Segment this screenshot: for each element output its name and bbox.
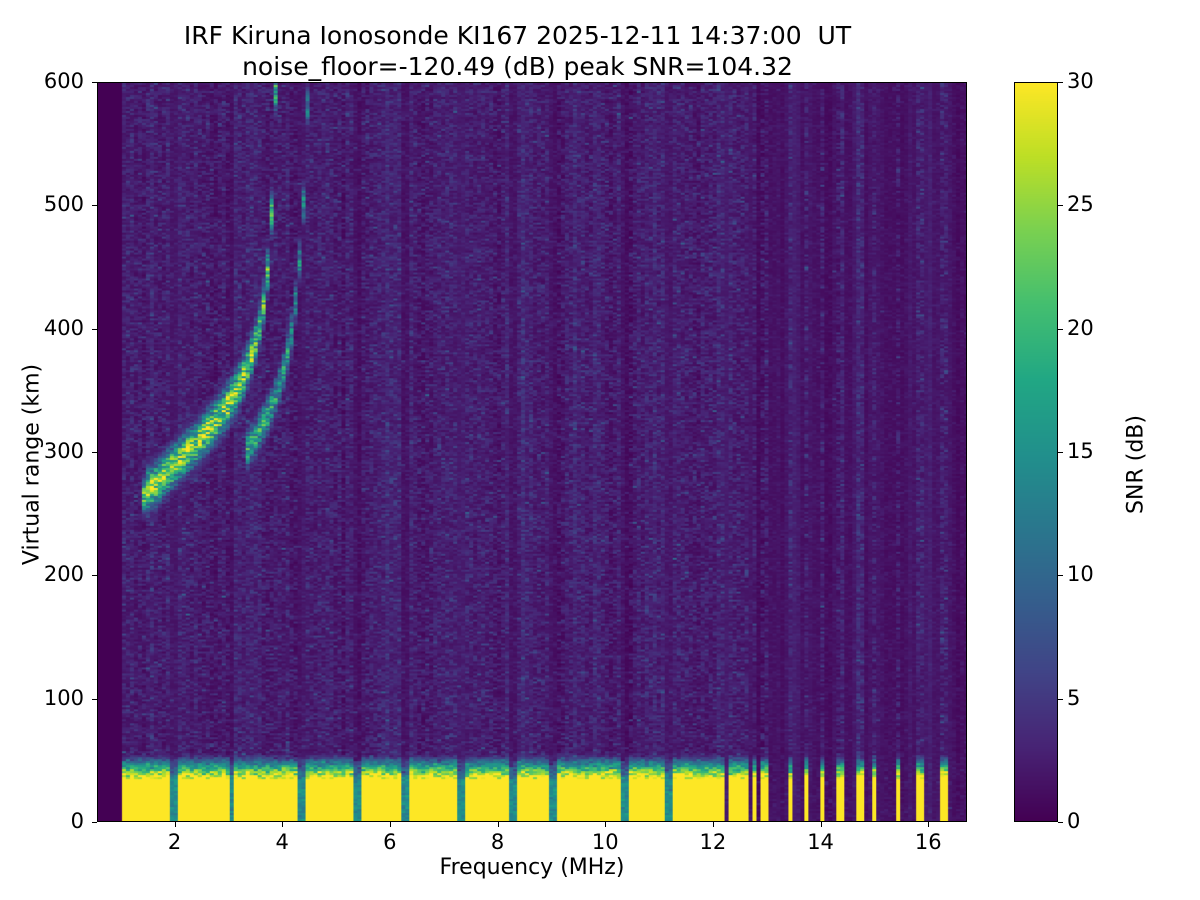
colorbar-tick-label: 15 — [1067, 439, 1094, 463]
x-tick-mark — [713, 822, 714, 827]
title-line-1: IRF Kiruna Ionosonde KI167 2025-12-11 14… — [0, 20, 1035, 51]
colorbar-tick-mark — [1058, 82, 1063, 83]
colorbar-label: SNR (dB) — [1124, 95, 1149, 835]
colorbar-tick-mark — [1058, 452, 1063, 453]
x-tick-mark — [928, 822, 929, 827]
y-tick-mark — [92, 452, 97, 453]
y-tick-mark — [92, 329, 97, 330]
x-tick-label: 14 — [791, 830, 851, 854]
colorbar-gradient — [1015, 83, 1057, 821]
x-tick-mark — [390, 822, 391, 827]
x-axis-label: Frequency (MHz) — [97, 855, 967, 880]
ionogram-heatmap — [98, 83, 966, 821]
x-tick-mark — [821, 822, 822, 827]
y-tick-mark — [92, 82, 97, 83]
colorbar-tick-mark — [1058, 329, 1063, 330]
figure-title: IRF Kiruna Ionosonde KI167 2025-12-11 14… — [0, 20, 1035, 82]
colorbar-tick-label: 30 — [1067, 69, 1094, 93]
colorbar-tick-label: 10 — [1067, 562, 1094, 586]
x-tick-mark — [282, 822, 283, 827]
x-tick-label: 2 — [145, 830, 205, 854]
colorbar-tick-label: 20 — [1067, 316, 1094, 340]
colorbar-tick-mark — [1058, 699, 1063, 700]
x-tick-mark — [605, 822, 606, 827]
y-tick-label: 600 — [0, 69, 84, 93]
x-tick-label: 6 — [360, 830, 420, 854]
title-line-2: noise_floor=-120.49 (dB) peak SNR=104.32 — [0, 51, 1035, 82]
x-tick-label: 10 — [575, 830, 635, 854]
x-tick-mark — [175, 822, 176, 827]
colorbar — [1014, 82, 1058, 822]
x-tick-label: 16 — [898, 830, 958, 854]
colorbar-tick-label: 5 — [1067, 686, 1080, 710]
x-tick-label: 8 — [468, 830, 528, 854]
x-tick-label: 4 — [252, 830, 312, 854]
colorbar-tick-mark — [1058, 205, 1063, 206]
ionogram-figure: IRF Kiruna Ionosonde KI167 2025-12-11 14… — [0, 0, 1200, 900]
ionogram-plot-area — [97, 82, 967, 822]
y-tick-mark — [92, 575, 97, 576]
colorbar-tick-label: 25 — [1067, 192, 1094, 216]
colorbar-tick-mark — [1058, 575, 1063, 576]
y-axis-label: Virtual range (km) — [20, 95, 45, 835]
colorbar-tick-mark — [1058, 822, 1063, 823]
colorbar-tick-label: 0 — [1067, 809, 1080, 833]
x-tick-label: 12 — [683, 830, 743, 854]
y-tick-mark — [92, 822, 97, 823]
y-tick-mark — [92, 205, 97, 206]
y-tick-mark — [92, 699, 97, 700]
x-tick-mark — [498, 822, 499, 827]
